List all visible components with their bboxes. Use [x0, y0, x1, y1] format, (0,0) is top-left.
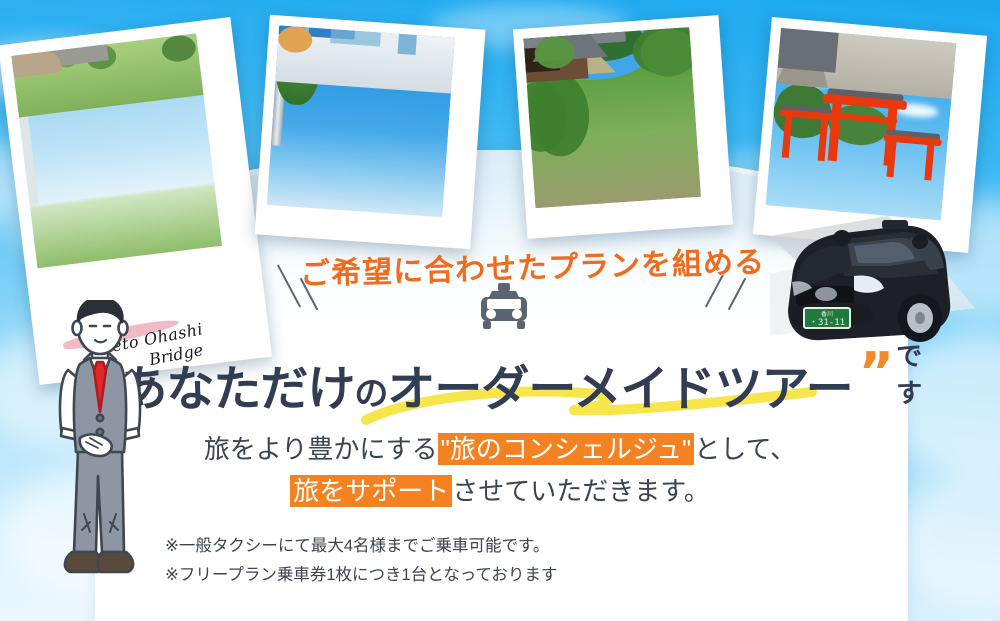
sub-copy: 旅をより豊かにする"旅のコンシェルジュ"として、 旅をサポートさせていただきます…	[120, 428, 880, 512]
svg-text:香川: 香川	[821, 310, 833, 318]
sub-copy-line-1: 旅をより豊かにする"旅のコンシェルジュ"として、	[120, 428, 880, 470]
photo-card-observation-tower	[255, 15, 486, 250]
taxi-front-icon	[475, 283, 533, 340]
taxi-driver-illustration	[40, 300, 160, 595]
photo-seto-ohashi-bridge	[11, 33, 222, 268]
note-item: ※フリープラン乗車券1枚につき1台となっております	[165, 561, 557, 590]
sub-line1-before: 旅をより豊かにする	[204, 434, 438, 464]
jpn-taxi-vehicle-photo: 香川 ・31-11	[770, 216, 975, 364]
photo-observation-tower	[267, 25, 455, 217]
sub-line1-after: として、	[694, 434, 796, 464]
sub-line2-highlight: 旅をサポート	[290, 475, 452, 507]
note-item: ※一般タクシーにて最大4名様までご乗車可能です。	[165, 532, 557, 561]
photo-card-temple	[513, 15, 733, 239]
promo-banner: Seto Ohashi Bridge	[0, 0, 1000, 621]
main-headline-row: “ あなただけのオーダーメイドツアー ” です	[120, 336, 880, 414]
photo-torii-shrine	[765, 28, 956, 221]
sub-line1-highlight: "旅のコンシェルジュ"	[438, 433, 695, 465]
notes-list: ※一般タクシーにて最大4名様までご乗車可能です。 ※フリープラン乗車券1枚につき…	[165, 532, 557, 590]
photo-temple	[524, 27, 701, 208]
main-headline: あなただけのオーダーメイドツアー	[119, 366, 852, 414]
sub-line2-after: させていただきます。	[452, 476, 709, 506]
sub-copy-line-2: 旅をサポートさせていただきます。	[120, 470, 880, 512]
svg-text:・31-11: ・31-11	[809, 318, 845, 328]
